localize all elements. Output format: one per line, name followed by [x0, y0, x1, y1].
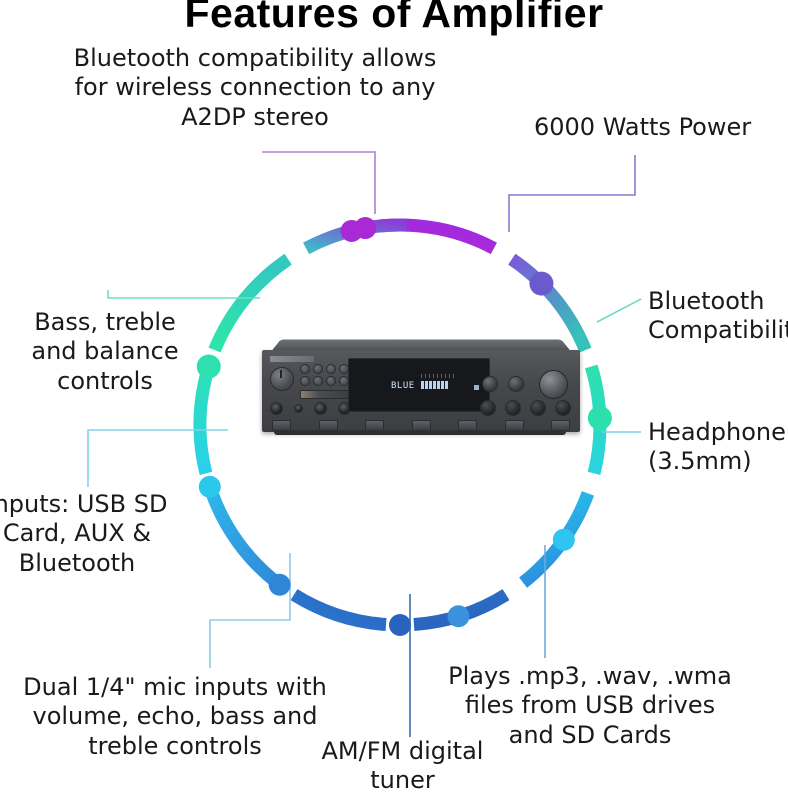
connector-dual-mic: [210, 553, 290, 668]
headphone-jack[interactable]: [294, 404, 303, 413]
node-6000-watts[interactable]: [529, 272, 553, 296]
master-knob[interactable]: [270, 367, 294, 391]
node-bluetooth-a2dp[interactable]: [341, 220, 363, 242]
tone-knob-row-top: [482, 376, 524, 392]
display-source-text: BLUE: [391, 381, 415, 391]
master-volume-knob[interactable]: [539, 370, 568, 399]
input-button[interactable]: [300, 376, 310, 386]
input-button[interactable]: [313, 364, 323, 374]
amplifier-device: BLUE: [262, 336, 580, 440]
amplifier-base: [274, 430, 566, 435]
connector-bluetooth-compatibility: [597, 299, 641, 322]
amplifier-display: BLUE: [348, 358, 490, 412]
node-amfm-tuner[interactable]: [389, 614, 411, 636]
input-button[interactable]: [300, 364, 310, 374]
tone-knob[interactable]: [480, 400, 496, 416]
ring-segment-lower-right-blue: [414, 595, 506, 625]
jack-row: [270, 402, 351, 415]
ring-segment-right-teal: [591, 367, 600, 474]
infographic-page: Features of Amplifier: [0, 0, 788, 797]
connector-bluetooth-a2dp: [262, 152, 375, 214]
tone-knob[interactable]: [530, 400, 546, 416]
ring-segment-bottom-blue-left: [294, 595, 386, 625]
input-button[interactable]: [326, 364, 336, 374]
tone-knob-row-bottom: [480, 400, 571, 416]
page-title: Features of Amplifier: [0, 0, 788, 37]
node-top-magenta[interactable]: [354, 217, 376, 239]
mic-jack[interactable]: [270, 402, 283, 415]
node-plays-files[interactable]: [447, 605, 469, 627]
amplifier-front-panel: BLUE: [262, 350, 580, 432]
connector-lines: [88, 152, 641, 737]
ring-segment-top-magenta: [379, 225, 494, 248]
mic-jack[interactable]: [314, 402, 327, 415]
brand-logo: [270, 356, 314, 362]
display-level-bars: [421, 381, 448, 389]
input-button-grid[interactable]: [300, 364, 347, 384]
feature-label-headphone: Headphone (3.5mm): [648, 418, 788, 477]
feature-label-bass-treble: Bass, treble and balance controls: [10, 308, 200, 396]
ring-segment-lower-left-blue: [212, 493, 277, 582]
tone-knob[interactable]: [555, 400, 571, 416]
ring-segment-left-cyan: [200, 370, 208, 474]
node-bass-treble[interactable]: [197, 355, 221, 379]
display-tick-scale: [421, 374, 457, 378]
feature-label-inputs-usb: Inputs: USB SD Card, AUX & Bluetooth: [0, 490, 192, 578]
feature-label-dual-mic: Dual 1/4" mic inputs with volume, echo, …: [10, 673, 340, 761]
node-bluetooth-compat[interactable]: [588, 406, 612, 430]
node-inputs-usb[interactable]: [199, 476, 221, 498]
node-headphone[interactable]: [553, 529, 575, 551]
amplifier-right-controls: [478, 360, 574, 422]
ring-segment-right-cyan: [523, 493, 588, 582]
input-button[interactable]: [313, 376, 323, 386]
connector-watts-power: [509, 155, 635, 232]
feature-label-watts-power: 6000 Watts Power: [534, 113, 788, 142]
feature-label-bluetooth-a2dp: Bluetooth compatibility allows for wirel…: [55, 44, 455, 132]
connector-inputs-usb: [88, 430, 228, 487]
tone-knob[interactable]: [508, 376, 524, 392]
tone-knob[interactable]: [482, 376, 498, 392]
connector-bass-treble: [108, 290, 260, 298]
feature-label-bluetooth-compatibility: Bluetooth Compatibility: [648, 287, 788, 346]
tone-knob[interactable]: [505, 400, 521, 416]
usb-sd-slot[interactable]: [300, 390, 350, 399]
node-dual-mic[interactable]: [269, 574, 291, 596]
input-button[interactable]: [326, 376, 336, 386]
ring-segment-upper-left-violet: [306, 225, 407, 248]
